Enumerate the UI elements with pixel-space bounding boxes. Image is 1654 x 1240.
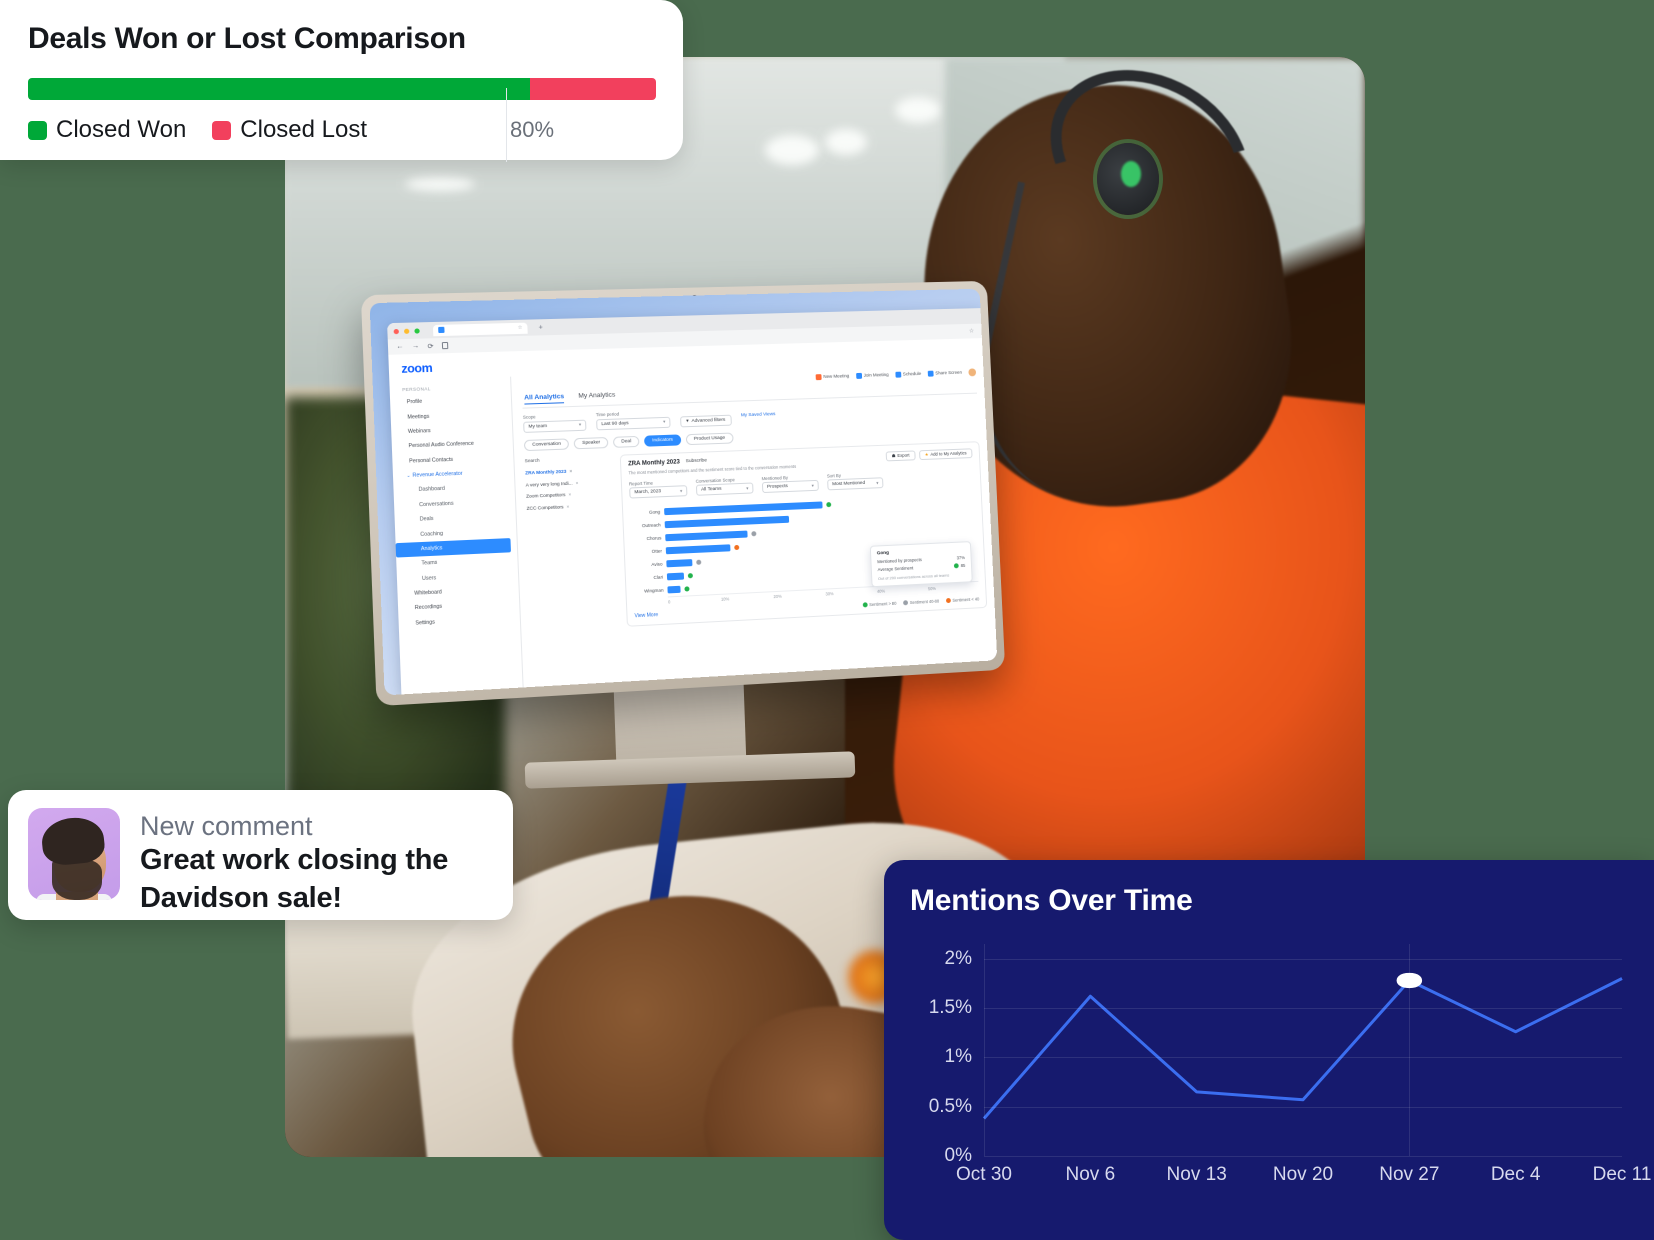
deals-stacked-bar — [28, 78, 656, 100]
x-tick-label: Dec 4 — [1491, 1164, 1541, 1186]
deals-bar-segment-lost — [530, 78, 656, 100]
scope-select[interactable]: My team ▾ — [523, 419, 586, 432]
bar-label: Gong — [630, 509, 660, 515]
legend-item-closed-won: Closed Won — [28, 116, 186, 144]
new-meeting-icon — [815, 374, 821, 380]
deals-card-title: Deals Won or Lost Comparison — [28, 22, 655, 56]
legend-item-closed-lost: Closed Lost — [212, 116, 367, 144]
window-close-icon[interactable] — [394, 328, 399, 333]
legend-item: Sentiment < 40 — [946, 596, 980, 603]
search-list: ZRA Monthly 2023×A very very long Indi..… — [525, 464, 614, 515]
legend-label: Sentiment 40-80 — [910, 598, 940, 604]
control-value: All Teams — [701, 487, 722, 493]
bar-label: Chorus — [631, 535, 661, 541]
chart-tooltip: Gong Mentioned by prospects 37% Average … — [870, 541, 973, 587]
remove-icon[interactable]: × — [566, 504, 569, 509]
avatar-beard — [52, 860, 102, 900]
app-body: PERSONAL ProfileMeetingsWebinarsPersonal… — [389, 362, 997, 694]
monitor-screen: ☆ + ← → ⟳ ☆ zoom P — [370, 289, 998, 696]
join-meeting-icon — [856, 372, 862, 378]
sidebar-item-label: Users — [422, 575, 436, 582]
tab-favicon — [438, 327, 444, 333]
ceiling-light — [405, 177, 475, 191]
legend-dot-icon — [862, 602, 867, 607]
legend-item: Sentiment > 80 — [862, 600, 896, 607]
tooltip-row2-value: 85 — [961, 563, 966, 568]
x-tick-label: Nov 20 — [1273, 1164, 1333, 1186]
bar[interactable] — [667, 586, 680, 594]
bar[interactable] — [666, 544, 731, 554]
sidebar-item-label: Recordings — [415, 604, 443, 612]
legend-label-won: Closed Won — [56, 116, 186, 144]
comment-text-block: New comment Great work closing the David… — [140, 808, 493, 918]
add-label: Add to My Analytics — [930, 450, 966, 456]
search-column: Search ZRA Monthly 2023×A very very long… — [525, 454, 619, 631]
topbar-share-screen-button[interactable]: Share Screen — [928, 369, 962, 376]
sidebar-item-label: Dashboard — [418, 486, 445, 493]
search-item[interactable]: ZCC Competitors× — [526, 499, 614, 515]
tab-my-analytics[interactable]: My Analytics — [578, 392, 615, 403]
bar[interactable] — [667, 573, 685, 581]
y-tick-label: 0.5% — [929, 1096, 972, 1118]
tab-close-icon[interactable]: ☆ — [518, 325, 523, 331]
control-value: March, 2023 — [634, 489, 661, 495]
plot-grid — [984, 944, 1622, 1156]
chevron-down-icon: ▾ — [876, 480, 878, 486]
topbar-label: Schedule — [903, 371, 921, 376]
gridline-horizontal — [984, 1107, 1622, 1108]
sidebar-item-label: Deals — [420, 516, 434, 523]
app-sidebar: PERSONAL ProfileMeetingsWebinarsPersonal… — [389, 377, 524, 695]
sidebar-item-label: Personal Audio Conference — [408, 441, 474, 449]
forward-icon[interactable]: → — [412, 343, 420, 350]
deals-percent-tick — [506, 88, 507, 162]
sidebar-item-label: Teams — [421, 560, 437, 567]
sidebar-item-label: Whiteboard — [414, 589, 442, 597]
mentions-chart-title: Mentions Over Time — [910, 884, 1628, 918]
new-comment-card[interactable]: New comment Great work closing the David… — [8, 790, 513, 920]
sentiment-dot-icon — [696, 560, 701, 565]
remove-icon[interactable]: × — [568, 492, 571, 497]
tooltip-row1-value: 37% — [957, 555, 966, 560]
saved-views-link[interactable]: My Saved Views — [741, 412, 776, 418]
x-tick-label: Nov 27 — [1379, 1164, 1439, 1186]
sentiment-dot-icon — [827, 502, 832, 507]
x-tick-label: Nov 6 — [1066, 1164, 1116, 1186]
ceiling-light — [765, 135, 819, 165]
topbar-new-meeting-button[interactable]: New Meeting — [815, 373, 849, 380]
comment-body: Great work closing the Davidson sale! — [140, 842, 493, 917]
chevron-down-icon: ▾ — [663, 419, 666, 425]
sidebar-item-label: Personal Contacts — [409, 457, 453, 465]
monitor-stand-foot — [525, 751, 856, 789]
control-value: Prospects — [767, 484, 788, 490]
legend-dot-icon — [903, 600, 908, 605]
topbar-label: Join Meeting — [864, 372, 889, 378]
scope-value: My team — [528, 424, 547, 430]
export-icon: ☗ — [892, 453, 896, 459]
deals-legend-row: Closed Won Closed Lost 80% — [28, 116, 656, 144]
legend-label-lost: Closed Lost — [240, 116, 367, 144]
chip-indicators[interactable]: Indicators — [644, 434, 681, 446]
y-axis-labels: 2%1.5%1%0.5%0% — [910, 944, 972, 1156]
bookmark-star-icon[interactable]: ☆ — [969, 328, 974, 335]
y-tick-label: 1.5% — [929, 997, 972, 1019]
legend-item: Sentiment 40-80 — [903, 598, 939, 605]
share-screen-icon — [928, 370, 934, 376]
back-icon[interactable]: ← — [396, 343, 404, 350]
sidebar-list: ProfileMeetingsWebinarsPersonal Audio Co… — [390, 392, 520, 632]
filter-icon: ▾ — [686, 419, 689, 424]
comment-label: New comment — [140, 810, 493, 842]
control-value: Most Mentioned — [832, 481, 865, 487]
sidebar-item-label: Coaching — [420, 530, 443, 537]
view-more-link[interactable]: View More — [634, 612, 658, 619]
tab-all-analytics[interactable]: All Analytics — [524, 393, 564, 404]
chevron-down-icon: ▾ — [579, 422, 582, 428]
bar-label: Outreach — [631, 522, 661, 528]
sidebar-item-label: Meetings — [407, 413, 429, 420]
topbar-label: New Meeting — [823, 373, 849, 379]
lock-icon — [442, 342, 448, 349]
headset-indicator — [1121, 161, 1141, 187]
chip-deal[interactable]: Deal — [613, 435, 639, 447]
x-axis-labels: Oct 30Nov 6Nov 13Nov 20Nov 27Dec 4Dec 11 — [984, 1164, 1622, 1188]
chip-conversation[interactable]: Conversation — [524, 438, 569, 451]
browser-tab[interactable]: ☆ — [433, 322, 528, 336]
bar-label: Aviso — [632, 561, 662, 567]
sidebar-item-label: Webinars — [408, 428, 431, 435]
chip-product-usage[interactable]: Product Usage — [686, 432, 734, 445]
sentiment-dot-icon — [735, 545, 740, 550]
gridline-horizontal — [984, 1156, 1622, 1157]
subscribe-link[interactable]: Subscribe — [686, 458, 707, 464]
mentions-line — [984, 979, 1622, 1119]
user-avatar-icon[interactable] — [968, 368, 976, 376]
export-label: Export — [897, 453, 909, 458]
browser-window: ☆ + ← → ⟳ ☆ zoom P — [387, 308, 997, 694]
export-button[interactable]: ☗ Export — [886, 450, 916, 461]
sentiment-dot-icon — [954, 563, 959, 568]
tooltip-row2-value-wrap: 85 — [954, 563, 965, 568]
deals-comparison-card: Deals Won or Lost Comparison Closed Won … — [0, 0, 683, 160]
new-tab-icon[interactable]: + — [538, 324, 542, 331]
advanced-filters-button[interactable]: ▾ Advanced filters — [680, 414, 731, 427]
reload-icon[interactable]: ⟳ — [427, 342, 433, 350]
time-value: Last 90 days — [601, 421, 629, 427]
schedule-icon — [895, 371, 901, 377]
sidebar-item-label: Conversations — [419, 501, 454, 509]
search-item-label: ZCC Competitors — [527, 505, 564, 512]
time-period-filter: Time period Last 90 days ▾ — [596, 410, 671, 430]
remove-icon[interactable]: × — [569, 468, 572, 473]
sidebar-item-label: Profile — [407, 399, 423, 406]
competitor-bar-chart: GongOutreachChorusOtterAvisoClariWingman… — [630, 484, 979, 606]
advanced-filters-label: Advanced filters — [691, 417, 725, 423]
desktop-monitor: ☆ + ← → ⟳ ☆ zoom P — [375, 287, 1025, 847]
bar-label: Wingman — [633, 588, 663, 595]
sentiment-dot-icon — [688, 573, 693, 578]
gridline-horizontal — [984, 1057, 1622, 1058]
topbar-label: Share Screen — [935, 370, 962, 376]
avatar — [28, 808, 120, 900]
sentiment-legend: Sentiment > 80Sentiment 40-80Sentiment <… — [862, 596, 979, 607]
y-tick-label: 1% — [945, 1046, 972, 1068]
legend-swatch-lost-icon — [212, 121, 231, 140]
topbar-schedule-button[interactable]: Schedule — [895, 371, 921, 378]
x-tick-label: Oct 30 — [956, 1164, 1012, 1186]
window-maximize-icon[interactable] — [414, 328, 419, 333]
remove-icon[interactable]: × — [575, 480, 578, 485]
deals-percent-label: 80% — [510, 117, 554, 143]
chip-speaker[interactable]: Speaker — [574, 436, 609, 448]
sentiment-dot-icon — [684, 586, 689, 591]
gridline-horizontal — [984, 1008, 1622, 1009]
search-item-label: A very very long Indi... — [526, 480, 573, 487]
legend-label: Sentiment < 40 — [952, 596, 979, 602]
star-icon: ★ — [925, 451, 929, 457]
mentions-plot: 2%1.5%1%0.5%0% Oct 30Nov 6Nov 13Nov 20No… — [910, 944, 1628, 1192]
search-item-label: Zoom Competitors — [526, 493, 565, 500]
deals-bar-segment-won — [28, 78, 530, 100]
search-label: Search — [525, 454, 612, 462]
sidebar-item-label: Settings — [415, 619, 435, 626]
search-item-label: ZRA Monthly 2023 — [525, 469, 566, 476]
chevron-down-icon: ▾ — [680, 488, 683, 494]
chevron-down-icon: ▾ — [811, 483, 813, 489]
window-minimize-icon[interactable] — [404, 328, 409, 333]
sentiment-dot-icon — [751, 531, 756, 536]
legend-swatch-won-icon — [28, 121, 47, 140]
gridline-vertical — [984, 944, 985, 1156]
app-main: New MeetingJoin MeetingScheduleShare Scr… — [511, 362, 997, 694]
legend-dot-icon — [946, 598, 951, 603]
x-tick-label: Dec 11 — [1593, 1164, 1652, 1186]
bar-label: Otter — [632, 548, 662, 554]
sidebar-item-label: Analytics — [421, 545, 443, 552]
topbar-join-meeting-button[interactable]: Join Meeting — [856, 372, 889, 379]
bar-label: Clari — [633, 575, 663, 581]
legend-label: Sentiment > 80 — [869, 600, 896, 606]
bar[interactable] — [665, 531, 747, 542]
gridline-vertical — [1409, 944, 1410, 1156]
x-tick-label: Nov 13 — [1167, 1164, 1227, 1186]
chevron-down-icon: ▾ — [746, 485, 748, 491]
scope-filter: Scope My team ▾ — [523, 413, 587, 433]
mentions-over-time-card: Mentions Over Time 2%1.5%1%0.5%0% Oct 30… — [884, 860, 1654, 1240]
bar[interactable] — [666, 559, 692, 567]
line-series — [984, 944, 1622, 1156]
analytics-panel: ZRA Monthly 2023 Subscribe ☗ Export — [620, 441, 987, 627]
scope-label: Scope — [523, 413, 586, 420]
gridline-horizontal — [984, 959, 1622, 960]
y-tick-label: 2% — [945, 948, 972, 970]
content-columns: Search ZRA Monthly 2023×A very very long… — [524, 434, 987, 632]
sidebar-item-label: Revenue Accelerator — [412, 471, 462, 479]
page-root: ☆ + ← → ⟳ ☆ zoom P — [0, 0, 1654, 1240]
add-to-my-analytics-button[interactable]: ★ Add to My Analytics — [919, 448, 973, 460]
chevron-down-icon: ⌄ — [406, 473, 410, 478]
